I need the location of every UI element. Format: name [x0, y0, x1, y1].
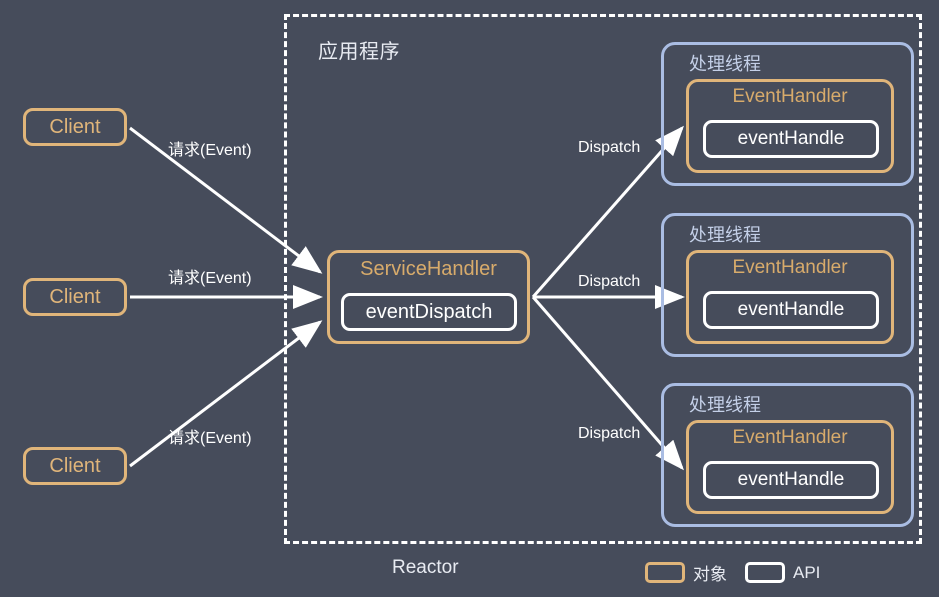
event-handler-api-label: eventHandle [738, 299, 845, 321]
edge-label-dispatch-3: Dispatch [578, 425, 640, 443]
edge-label-request-1: 请求(Event) [168, 136, 252, 160]
event-handler-box-1[interactable]: EventHandler eventHandle [686, 79, 894, 173]
handler-thread-box-3[interactable]: 处理线程 EventHandler eventHandle [661, 383, 914, 527]
event-handler-title: EventHandler [689, 86, 891, 108]
edge-label-dispatch-1: Dispatch [578, 139, 640, 157]
legend-label-object: 对象 [693, 560, 727, 585]
legend-swatch-object-icon [645, 562, 685, 583]
service-handler-box[interactable]: ServiceHandler eventDispatch [327, 250, 530, 344]
handler-thread-title: 处理线程 [689, 221, 761, 247]
service-handler-api-box[interactable]: eventDispatch [341, 293, 517, 331]
reactor-label: Reactor [392, 557, 459, 579]
edge-label-request-2: 请求(Event) [168, 264, 252, 288]
handler-thread-title: 处理线程 [689, 391, 761, 417]
edge-label-request-3: 请求(Event) [168, 424, 252, 448]
handler-thread-box-1[interactable]: 处理线程 EventHandler eventHandle [661, 42, 914, 186]
service-handler-title: ServiceHandler [330, 258, 527, 281]
legend-label-api: API [793, 563, 820, 583]
event-handler-api-label: eventHandle [738, 469, 845, 491]
client-box-1[interactable]: Client [23, 108, 127, 146]
client-box-3[interactable]: Client [23, 447, 127, 485]
event-handler-api-box[interactable]: eventHandle [703, 461, 879, 499]
handler-thread-box-2[interactable]: 处理线程 EventHandler eventHandle [661, 213, 914, 357]
application-title: 应用程序 [318, 35, 400, 64]
event-handler-api-label: eventHandle [738, 128, 845, 150]
client-box-2[interactable]: Client [23, 278, 127, 316]
handler-thread-title: 处理线程 [689, 50, 761, 76]
event-handler-box-3[interactable]: EventHandler eventHandle [686, 420, 894, 514]
service-handler-api-label: eventDispatch [366, 301, 493, 324]
event-handler-api-box[interactable]: eventHandle [703, 291, 879, 329]
legend-swatch-api-icon [745, 562, 785, 583]
event-handler-title: EventHandler [689, 257, 891, 279]
event-handler-box-2[interactable]: EventHandler eventHandle [686, 250, 894, 344]
client-label: Client [49, 286, 100, 309]
legend: 对象 API [645, 560, 830, 585]
event-handler-title: EventHandler [689, 427, 891, 449]
event-handler-api-box[interactable]: eventHandle [703, 120, 879, 158]
edge-label-dispatch-2: Dispatch [578, 273, 640, 291]
client-label: Client [49, 455, 100, 478]
client-label: Client [49, 116, 100, 139]
diagram-canvas: 应用程序 Reactor Client Client Client Servic… [0, 0, 939, 597]
